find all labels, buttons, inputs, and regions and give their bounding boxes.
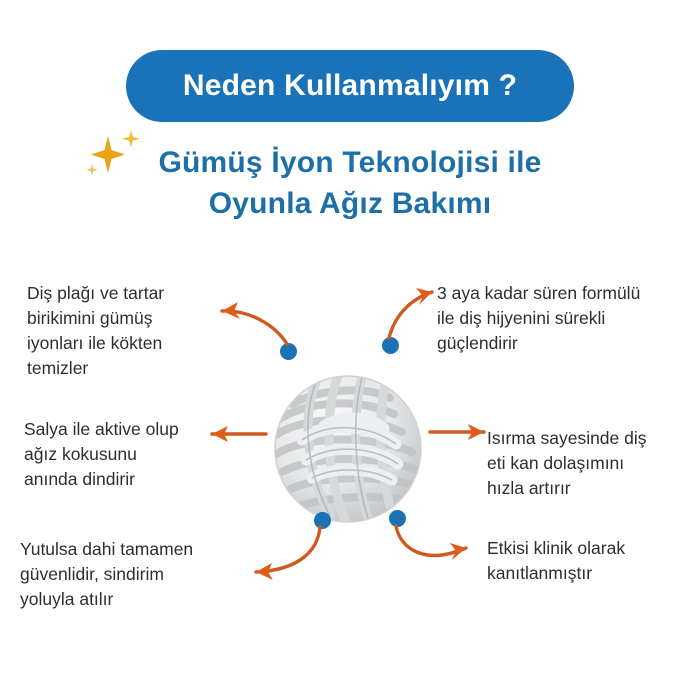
callout-line: kanıtlanmıştır <box>487 561 625 586</box>
callout-line: ile diş hijyenini sürekli <box>437 306 640 331</box>
connector-dot-bottom-right <box>389 510 406 527</box>
arrow-bottom-left-curve <box>256 527 320 572</box>
header-pill-label: Neden Kullanmalıyım ? <box>183 69 517 103</box>
connector-dot-bottom-left <box>314 512 331 529</box>
callout-line: Diş plağı ve tartar <box>27 281 164 306</box>
callout-line: 3 aya kadar süren formülü <box>437 281 640 306</box>
arrowhead-top-left <box>222 302 240 319</box>
connector-dot-top-left <box>280 343 297 360</box>
arrowhead-bottom-left <box>256 563 273 580</box>
callout-three-month-formula: 3 aya kadar süren formülü ile diş hijyen… <box>437 281 640 356</box>
subtitle-line-1: Gümüş İyon Teknolojisi ile <box>0 142 700 183</box>
arrow-top-left-curve <box>222 311 287 344</box>
arrowhead-top-right <box>416 288 432 305</box>
arrow-top-right-curve <box>389 292 432 338</box>
callout-saliva-activated: Salya ile aktive olup ağız kokusunu anın… <box>24 417 179 492</box>
arrow-bottom-right-curve <box>396 526 466 555</box>
callout-line: Isırma sayesinde diş <box>487 426 647 451</box>
callout-line: Yutulsa dahi tamamen <box>20 537 193 562</box>
callout-clinically-proven: Etkisi klinik olarak kanıtlanmıştır <box>487 536 625 586</box>
callout-line: güçlendirir <box>437 331 640 356</box>
connector-dot-top-right <box>382 337 399 354</box>
callout-line: temizler <box>27 356 164 381</box>
callout-line: güvenlidir, sindirim <box>20 562 193 587</box>
callout-line: hızla artırır <box>487 476 647 501</box>
product-rope-ball-image <box>272 374 424 524</box>
callout-line: ağız kokusunu <box>24 442 179 467</box>
callout-line: yoluyla atılır <box>20 587 193 612</box>
header-pill-badge: Neden Kullanmalıyım ? <box>126 50 574 122</box>
callout-gum-circulation: Isırma sayesinde diş eti kan dolaşımını … <box>487 426 647 501</box>
callout-plaque-tartar: Diş plağı ve tartar birikimini gümüş iyo… <box>27 281 164 381</box>
arrowhead-middle-left <box>212 426 228 442</box>
callout-line: Etkisi klinik olarak <box>487 536 625 561</box>
callout-line: Salya ile aktive olup <box>24 417 179 442</box>
arrowhead-middle-right <box>468 424 484 440</box>
callout-safe-if-swallowed: Yutulsa dahi tamamen güvenlidir, sindiri… <box>20 537 193 612</box>
infographic-canvas: Neden Kullanmalıyım ? Gümüş İyon Teknolo… <box>0 0 700 700</box>
subtitle-line-2: Oyunla Ağız Bakımı <box>0 183 700 224</box>
rope-ball-icon <box>272 374 424 524</box>
subtitle-heading: Gümüş İyon Teknolojisi ile Oyunla Ağız B… <box>0 142 700 224</box>
callout-line: birikimini gümüş <box>27 306 164 331</box>
callout-line: eti kan dolaşımını <box>487 451 647 476</box>
callout-line: iyonları ile kökten <box>27 331 164 356</box>
arrowhead-bottom-right <box>450 543 466 560</box>
callout-line: anında dindirir <box>24 467 179 492</box>
